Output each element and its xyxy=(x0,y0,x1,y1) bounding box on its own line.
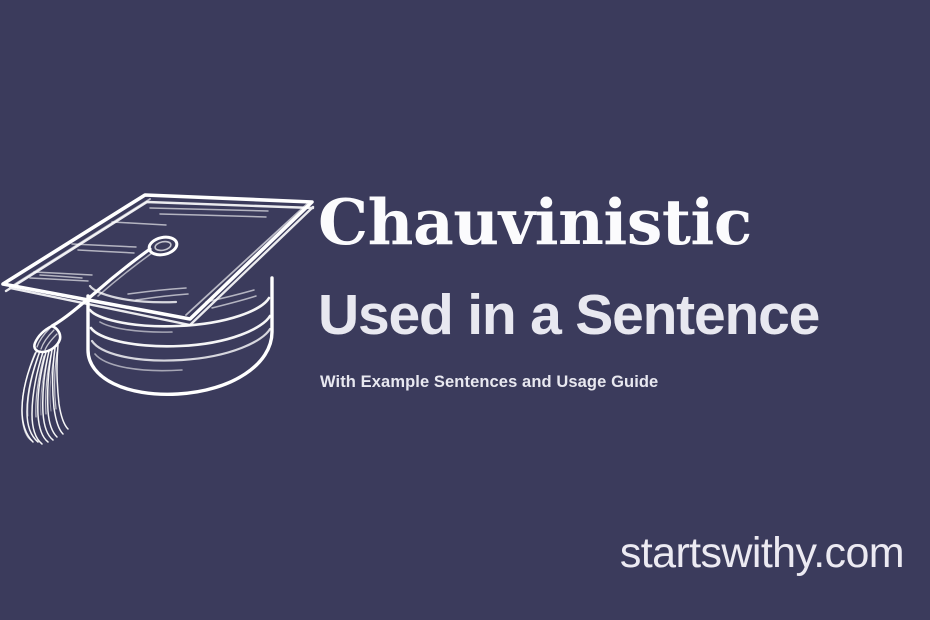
graduation-cap-icon xyxy=(0,178,320,453)
word-banner: Chauvinistic Used in a Sentence With Exa… xyxy=(0,0,930,620)
brand-site-name: startswithy.com xyxy=(620,528,904,578)
page-title-phrase: Used in a Sentence xyxy=(318,282,918,348)
page-title-word: Chauvinistic xyxy=(318,186,918,258)
page-subtitle: With Example Sentences and Usage Guide xyxy=(320,371,918,393)
headline-block: Chauvinistic Used in a Sentence With Exa… xyxy=(318,186,918,393)
